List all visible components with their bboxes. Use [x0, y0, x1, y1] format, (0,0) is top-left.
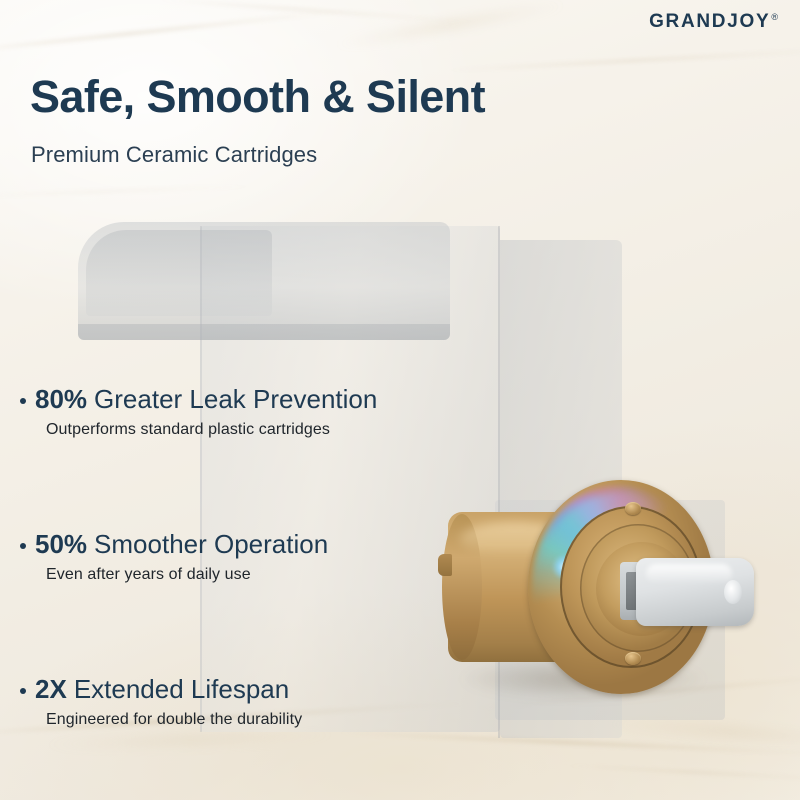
feature-stat: 2X	[35, 675, 67, 705]
feature-headline: 80% Greater Leak Prevention	[20, 385, 490, 415]
feature-stat: 80%	[35, 385, 87, 415]
feature-description: Even after years of daily use	[46, 566, 490, 584]
list-item: 50% Smoother Operation Even after years …	[20, 530, 490, 584]
feature-title: Greater Leak Prevention	[94, 385, 377, 415]
bullet-dot-icon	[20, 543, 26, 549]
page-title: Safe, Smooth & Silent	[30, 74, 485, 119]
cartridge-screw-boss	[625, 502, 641, 515]
ghost-faucet-spout-highlight	[86, 230, 272, 316]
feature-title: Extended Lifespan	[74, 675, 289, 705]
feature-headline: 2X Extended Lifespan	[20, 675, 490, 705]
feature-description: Outperforms standard plastic cartridges	[46, 421, 490, 439]
page-subtitle: Premium Ceramic Cartridges	[31, 142, 317, 168]
feature-description: Engineered for double the durability	[46, 711, 490, 729]
ghost-faucet-edge	[200, 226, 202, 732]
bullet-dot-icon	[20, 688, 26, 694]
brand-logo: GRANDJOY®	[649, 11, 778, 33]
product-image-ceramic-cartridge	[440, 462, 770, 720]
cartridge-stem-hole	[724, 580, 742, 604]
list-item: 2X Extended Lifespan Engineered for doub…	[20, 675, 490, 729]
feature-headline: 50% Smoother Operation	[20, 530, 490, 560]
cartridge-stem-highlight	[646, 564, 732, 584]
registered-trademark-icon: ®	[771, 12, 778, 22]
list-item: 80% Greater Leak Prevention Outperforms …	[20, 385, 490, 439]
product-feature-graphic: GRANDJOY® Safe, Smooth & Silent Premium …	[0, 0, 800, 800]
cartridge-screw-boss	[625, 652, 641, 665]
ghost-faucet-spout-shadow	[78, 324, 450, 340]
feature-title: Smoother Operation	[94, 530, 328, 560]
bullet-dot-icon	[20, 398, 26, 404]
brand-name: GRANDJOY	[649, 11, 770, 33]
feature-stat: 50%	[35, 530, 87, 560]
cartridge-alignment-nub	[438, 554, 452, 576]
